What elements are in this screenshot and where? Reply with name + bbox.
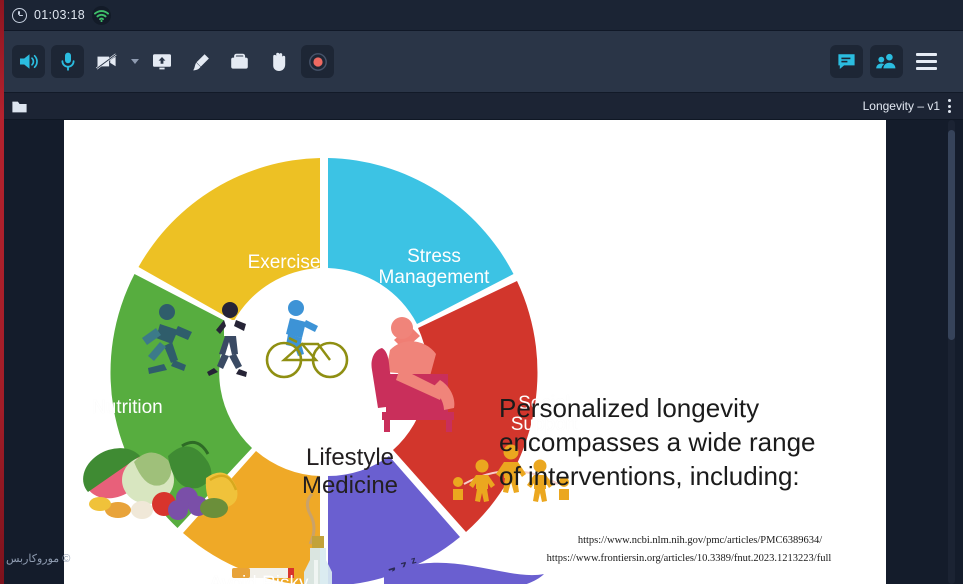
record-icon — [307, 51, 329, 73]
body-line-1: Personalized longevity — [499, 392, 869, 426]
center-line-2: Medicine — [250, 472, 450, 500]
wheel-center-label: Lifestyle Medicine — [250, 444, 450, 499]
camera-dropdown[interactable] — [131, 59, 139, 64]
slide-scrollbar-thumb[interactable] — [948, 130, 955, 340]
meeting-toolbar — [0, 31, 963, 93]
participants-icon — [875, 52, 898, 71]
body-line-3: of interventions, including: — [499, 460, 869, 494]
folder-icon[interactable] — [11, 99, 28, 114]
app-root: 01:03:18 — [0, 0, 963, 584]
briefcase-button[interactable] — [223, 45, 256, 78]
left-edge-stripe — [0, 0, 4, 584]
annotate-button[interactable] — [184, 45, 217, 78]
screen-share-button[interactable] — [145, 45, 178, 78]
screen-share-icon — [151, 52, 173, 71]
menu-button[interactable] — [910, 45, 943, 78]
raise-hand-button[interactable] — [262, 45, 295, 78]
participants-button[interactable] — [870, 45, 903, 78]
body-line-2: encompasses a wide range — [499, 426, 869, 460]
wheel-svg: z z z — [64, 120, 584, 584]
center-line-1: Lifestyle — [250, 444, 450, 472]
chat-button[interactable] — [830, 45, 863, 78]
lifestyle-medicine-wheel: z z z Exercise Stress Management — [64, 120, 584, 584]
status-bar: 01:03:18 — [0, 0, 963, 31]
exercise-icons — [142, 300, 347, 377]
session-timer: 01:03:18 — [34, 8, 85, 22]
speaker-icon — [18, 52, 40, 71]
kebab-menu-icon[interactable] — [948, 99, 951, 113]
hamburger-icon — [916, 53, 937, 70]
speaker-button[interactable] — [12, 45, 45, 78]
document-bar-right: Longevity – v1 — [863, 99, 963, 113]
slide-canvas[interactable]: z z z Exercise Stress Management — [64, 120, 886, 584]
briefcase-icon — [229, 52, 250, 71]
toolbar-left-group — [0, 45, 334, 78]
slide-body-text: Personalized longevity encompasses a wid… — [499, 392, 869, 493]
microphone-button[interactable] — [51, 45, 84, 78]
brush-icon — [190, 52, 211, 72]
citation-1: https://www.ncbi.nlm.nih.gov/pmc/article… — [494, 532, 884, 550]
microphone-icon — [59, 51, 77, 72]
record-button[interactable] — [301, 45, 334, 78]
clock-icon — [12, 8, 27, 23]
document-bar-left — [0, 99, 28, 114]
document-title: Longevity – v1 — [863, 99, 940, 113]
watermark-text: © موروکاربس — [6, 552, 70, 565]
camera-off-icon — [95, 52, 119, 71]
chat-icon — [836, 52, 857, 71]
wifi-icon — [92, 6, 111, 25]
camera-off-button[interactable] — [90, 45, 123, 78]
slide-citations: https://www.ncbi.nlm.nih.gov/pmc/article… — [494, 532, 884, 569]
document-bar: Longevity – v1 — [0, 93, 963, 120]
citation-2: https://www.frontiersin.org/articles/10.… — [494, 550, 884, 568]
toolbar-right-group — [830, 45, 963, 78]
hand-icon — [269, 51, 289, 72]
presentation-stage: © موروکاربس — [0, 120, 963, 584]
